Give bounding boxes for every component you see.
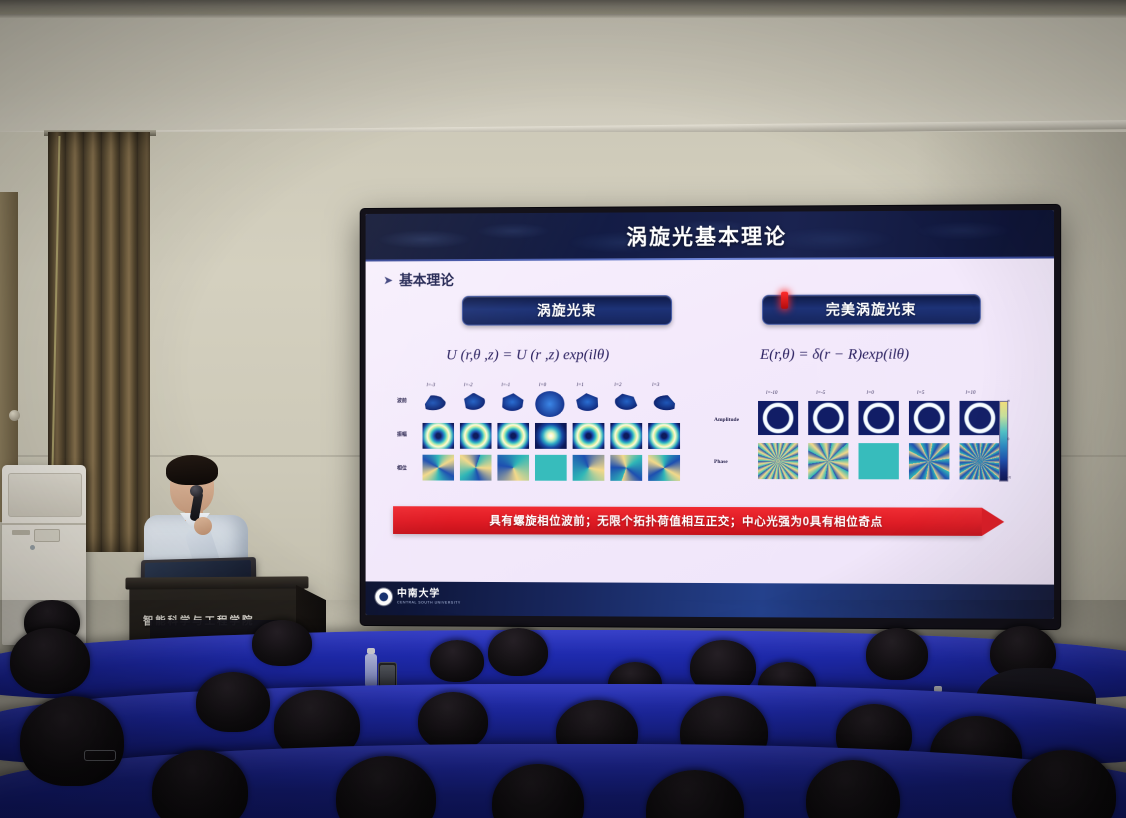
phase-cell [423, 455, 454, 481]
formula-perfect-vortex: E(r,θ) = δ(r − R)exp(ilθ) [760, 347, 909, 364]
bottle-cap-icon [367, 648, 375, 654]
amplitude-cell [460, 423, 492, 449]
phase-cell [573, 455, 605, 481]
phase-cell [648, 455, 680, 481]
pill-left-label: 涡旋光束 [537, 300, 596, 320]
presenter-hand [194, 517, 212, 535]
colorbar-ticks: π 0 -π [1007, 399, 1023, 482]
door-knob-icon[interactable] [9, 410, 20, 421]
audience-head [10, 628, 90, 694]
colorbar-tick-mid: 0 [1007, 437, 1009, 441]
row-label-wavefront: 波前 [397, 397, 407, 404]
microphone-head-icon [190, 485, 203, 497]
podium-top [125, 576, 308, 589]
phase-cell [909, 443, 949, 479]
audience-head [488, 628, 548, 676]
col-label-l-0: l=0 [539, 383, 546, 388]
col-label-l-p10: l=10 [966, 391, 976, 396]
amplitude-cell [535, 423, 567, 449]
summary-banner: 具有螺旋相位波前；无限个拓扑荷值相互正交；中心光强为0具有相位奇点 [393, 506, 982, 536]
col-label-l-p3: l=3 [652, 383, 659, 388]
ac-brand-label [12, 530, 30, 535]
col-label-l-p2: l=2 [614, 383, 621, 388]
audience-head [196, 672, 270, 732]
bullet-row: ➤ 基本理论 [383, 270, 454, 290]
summary-banner-arrow-icon [982, 508, 1004, 536]
ac-power-led-icon [30, 545, 35, 550]
laser-pointer-dot-icon [781, 292, 788, 309]
amplitude-cell [859, 401, 899, 435]
figure-perfect-vortex-grid: Amplitude Phase l=-10 l=-5 l=0 l=5 l=10 [714, 383, 1016, 492]
wavefront-cell [535, 391, 565, 417]
ac-seam [2, 523, 86, 525]
colorbar-tick-max: π [1007, 399, 1010, 403]
col-label-l-m5: l=-5 [816, 391, 825, 396]
amplitude-cell [909, 401, 949, 435]
col-label-l-m1: l=-1 [501, 383, 510, 388]
summary-banner-text: 具有螺旋相位波前；无限个拓扑荷值相互正交；中心光强为0具有相位奇点 [489, 512, 882, 529]
wavefront-cell [497, 391, 527, 417]
col-label-l-0: l=0 [867, 391, 874, 396]
row-label-phase-en: Phase [714, 459, 728, 465]
ac-control-panel[interactable] [34, 529, 60, 542]
amplitude-cell [610, 423, 642, 449]
row-label-phase: 相位 [397, 465, 407, 472]
audience-head [252, 620, 312, 666]
arrow-bullet-icon: ➤ [383, 274, 393, 286]
colorbar-tick-min: -π [1007, 475, 1011, 479]
lecture-hall-scene: 涡旋光基本理论 ➤ 基本理论 涡旋光束 完美涡旋光束 U (r [0, 0, 1126, 818]
phase-cell [535, 455, 567, 481]
slide: 涡旋光基本理论 ➤ 基本理论 涡旋光束 完美涡旋光束 U (r [366, 210, 1054, 619]
audience-head [866, 628, 928, 680]
phase-cell [859, 443, 899, 479]
amplitude-cell [808, 401, 848, 435]
pill-right-label: 完美涡旋光束 [826, 299, 917, 319]
audience-head [20, 696, 124, 786]
col-label-l-m3: l=-3 [426, 383, 435, 388]
section-pill-vortex-beam: 涡旋光束 [462, 295, 672, 326]
phase-cell [960, 443, 1001, 479]
wall-upper [0, 18, 1126, 133]
col-label-l-m2: l=-2 [464, 383, 473, 388]
phase-cell [758, 443, 798, 479]
university-name-cn: 中南大学 [397, 589, 461, 599]
audience-head [430, 640, 484, 682]
amplitude-cell [573, 423, 605, 449]
amplitude-cell [758, 401, 798, 435]
amplitude-cell [960, 401, 1001, 435]
section-pill-perfect-vortex-beam: 完美涡旋光束 [762, 294, 981, 325]
amplitude-cell [423, 423, 454, 449]
presentation-display: 涡旋光基本理论 ➤ 基本理论 涡旋光束 完美涡旋光束 U (r [361, 205, 1060, 629]
row-label-amplitude: 振幅 [397, 431, 407, 438]
audience-head [418, 692, 488, 750]
col-label-l-p1: l=1 [577, 383, 584, 388]
phase-cell [497, 455, 529, 481]
amplitude-cell [497, 423, 529, 449]
wavefront-cell [423, 391, 453, 417]
figure-vortex-beam-grid: 波前 振幅 相位 l=-3 l=-2 l=-1 l=0 l=1 l=2 l=3 [397, 383, 692, 491]
wavefront-cell [610, 391, 640, 417]
bullet-label: 基本理论 [399, 270, 454, 290]
ac-vent-icon [8, 473, 82, 517]
slide-title: 涡旋光基本理论 [366, 219, 1054, 252]
row-label-amplitude-en: Amplitude [714, 417, 739, 423]
water-bottle[interactable] [365, 654, 377, 688]
audience-area [0, 600, 1126, 818]
col-label-l-p5: l=5 [917, 391, 924, 396]
wavefront-cell [573, 391, 603, 417]
wavefront-cell [460, 391, 490, 417]
amplitude-cell [648, 423, 680, 449]
slide-title-band: 涡旋光基本理论 [366, 210, 1054, 260]
formula-vortex-beam: U (r,θ ,z) = U (r ,z) exp(ilθ) [446, 347, 609, 364]
phase-cell [808, 443, 848, 479]
phase-cell [610, 455, 642, 481]
display-panel: 涡旋光基本理论 ➤ 基本理论 涡旋光束 完美涡旋光束 U (r [366, 210, 1054, 619]
wavefront-cell [648, 391, 678, 417]
phase-cell [460, 455, 492, 481]
slide-body: ➤ 基本理论 涡旋光束 完美涡旋光束 U (r,θ ,z) = U (r ,z)… [366, 259, 1054, 584]
col-label-l-m10: l=-10 [766, 391, 777, 396]
presenter-hair [166, 455, 218, 485]
eyeglasses-icon [84, 750, 116, 761]
